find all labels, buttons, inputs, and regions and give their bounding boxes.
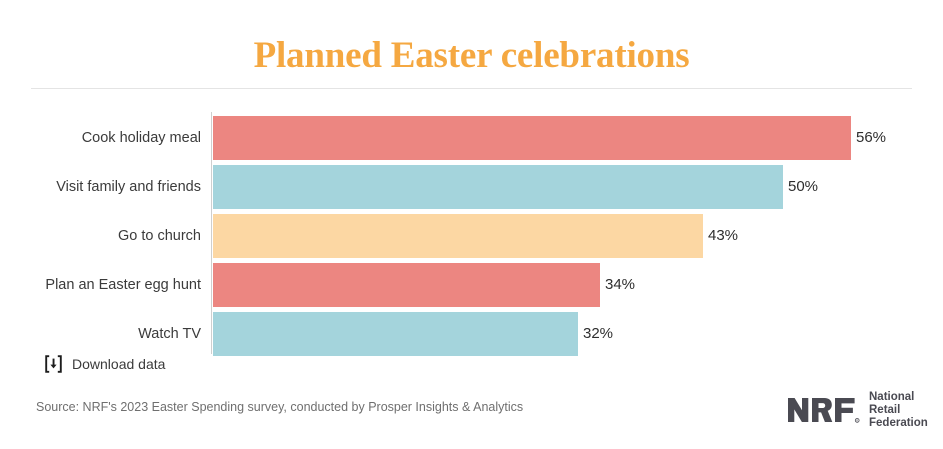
source-note: Source: NRF's 2023 Easter Spending surve… <box>36 400 523 414</box>
bar-rect[interactable] <box>213 312 578 356</box>
bar-row: Go to church 43% <box>0 214 943 258</box>
bar-category-label: Plan an Easter egg hunt <box>45 263 201 307</box>
bar-row: Cook holiday meal 56% <box>0 116 943 160</box>
bar-row: Watch TV 32% <box>0 312 943 356</box>
svg-text:R: R <box>856 418 858 422</box>
nrf-wordmark-line-1: National <box>869 391 928 404</box>
bar-value-label: 34% <box>600 263 635 307</box>
chart-title: Planned Easter celebrations <box>0 33 943 79</box>
download-data-label: Download data <box>72 355 165 373</box>
bar-category-label: Cook holiday meal <box>82 116 201 160</box>
nrf-wordmark: National Retail Federation <box>869 391 928 430</box>
bar-value-label: 50% <box>783 165 818 209</box>
bar-value-label: 43% <box>703 214 738 258</box>
bar-track: 32% <box>213 312 578 356</box>
title-divider <box>31 88 912 89</box>
bar-rect[interactable] <box>213 214 703 258</box>
download-data-button[interactable]: Download data <box>45 352 165 376</box>
bar-value-label: 32% <box>578 312 613 356</box>
bar-rect[interactable] <box>213 263 600 307</box>
bar-row: Visit family and friends 50% <box>0 165 943 209</box>
nrf-mark-icon: R <box>788 396 860 426</box>
bar-row: Plan an Easter egg hunt 34% <box>0 263 943 307</box>
bar-track: 56% <box>213 116 851 160</box>
bar-track: 34% <box>213 263 600 307</box>
download-tray-icon <box>45 355 62 373</box>
nrf-wordmark-line-3: Federation <box>869 417 928 430</box>
bar-track: 43% <box>213 214 703 258</box>
bar-rect[interactable] <box>213 165 783 209</box>
bar-category-label: Go to church <box>118 214 201 258</box>
bar-rect[interactable] <box>213 116 851 160</box>
bar-category-label: Watch TV <box>138 312 201 356</box>
bar-chart-plot-area: Cook holiday meal 56% Visit family and f… <box>0 104 943 354</box>
bar-value-label: 56% <box>851 116 886 160</box>
bar-track: 50% <box>213 165 783 209</box>
nrf-logo: R National Retail Federation <box>788 391 928 430</box>
nrf-wordmark-line-2: Retail <box>869 404 928 417</box>
bar-category-label: Visit family and friends <box>56 165 201 209</box>
